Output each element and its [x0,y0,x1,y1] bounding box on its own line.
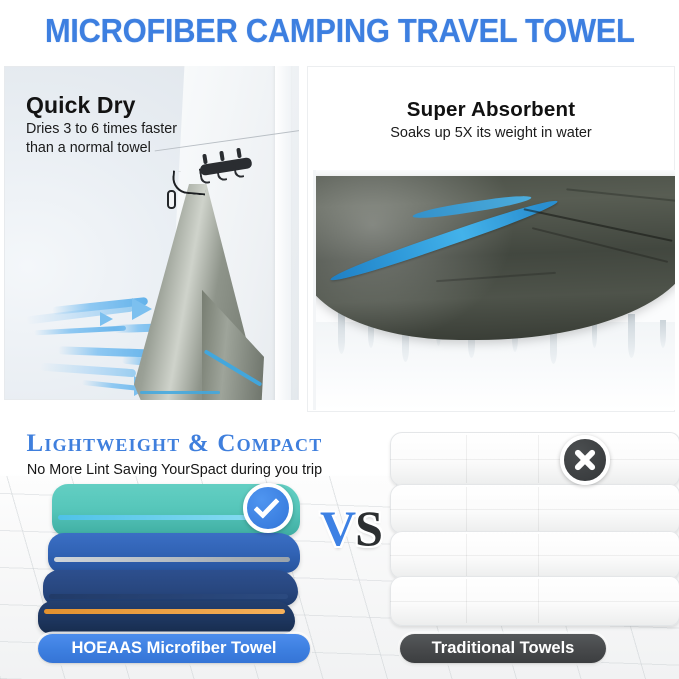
page-title: MICROFIBER CAMPING TRAVEL TOWEL [45,12,635,50]
white-terry-towel [390,531,679,579]
panel-quick-dry: Quick Dry Dries 3 to 6 times faster than… [4,66,299,400]
folded-towel-dark-navy [38,601,295,634]
hanging-loop-cord [171,171,207,196]
wall-trim-strip [275,66,291,400]
carabiner-clip-icon [167,190,176,209]
super-absorbent-subtext: Soaks up 5X its weight in water [307,125,675,141]
versus-label: VS [320,498,404,560]
quick-dry-heading: Quick Dry [26,92,136,119]
label-hoeaas-microfiber-towel: HOEAAS Microfiber Towel [38,634,310,663]
traditional-towel-stack [390,432,679,632]
towel-trim-edge-bottom [140,391,220,394]
header-banner: MICROFIBER CAMPING TRAVEL TOWEL [0,0,679,62]
wet-towel-photo [313,170,675,410]
lightweight-compact-heading: Lightweight & Compact [0,430,349,458]
versus-v: V [320,500,355,556]
versus-s: S [355,500,382,556]
white-terry-towel [390,576,679,626]
folded-towel-blue [48,533,300,573]
lightweight-compact-subtext: No More Lint Saving YourSpact during you… [0,462,349,478]
check-circle-icon [243,483,293,533]
white-terry-towel [390,432,679,486]
product-infographic: MICROFIBER CAMPING TRAVEL TOWEL Quick Dr… [0,0,679,679]
super-absorbent-heading: Super Absorbent [307,98,675,122]
x-circle-icon [560,435,610,485]
quick-dry-subtext: Dries 3 to 6 times faster than a normal … [26,120,206,158]
white-terry-towel [390,484,679,534]
panel-super-absorbent: Super Absorbent Soaks up 5X its weight i… [307,66,675,412]
label-traditional-towels: Traditional Towels [400,634,606,663]
